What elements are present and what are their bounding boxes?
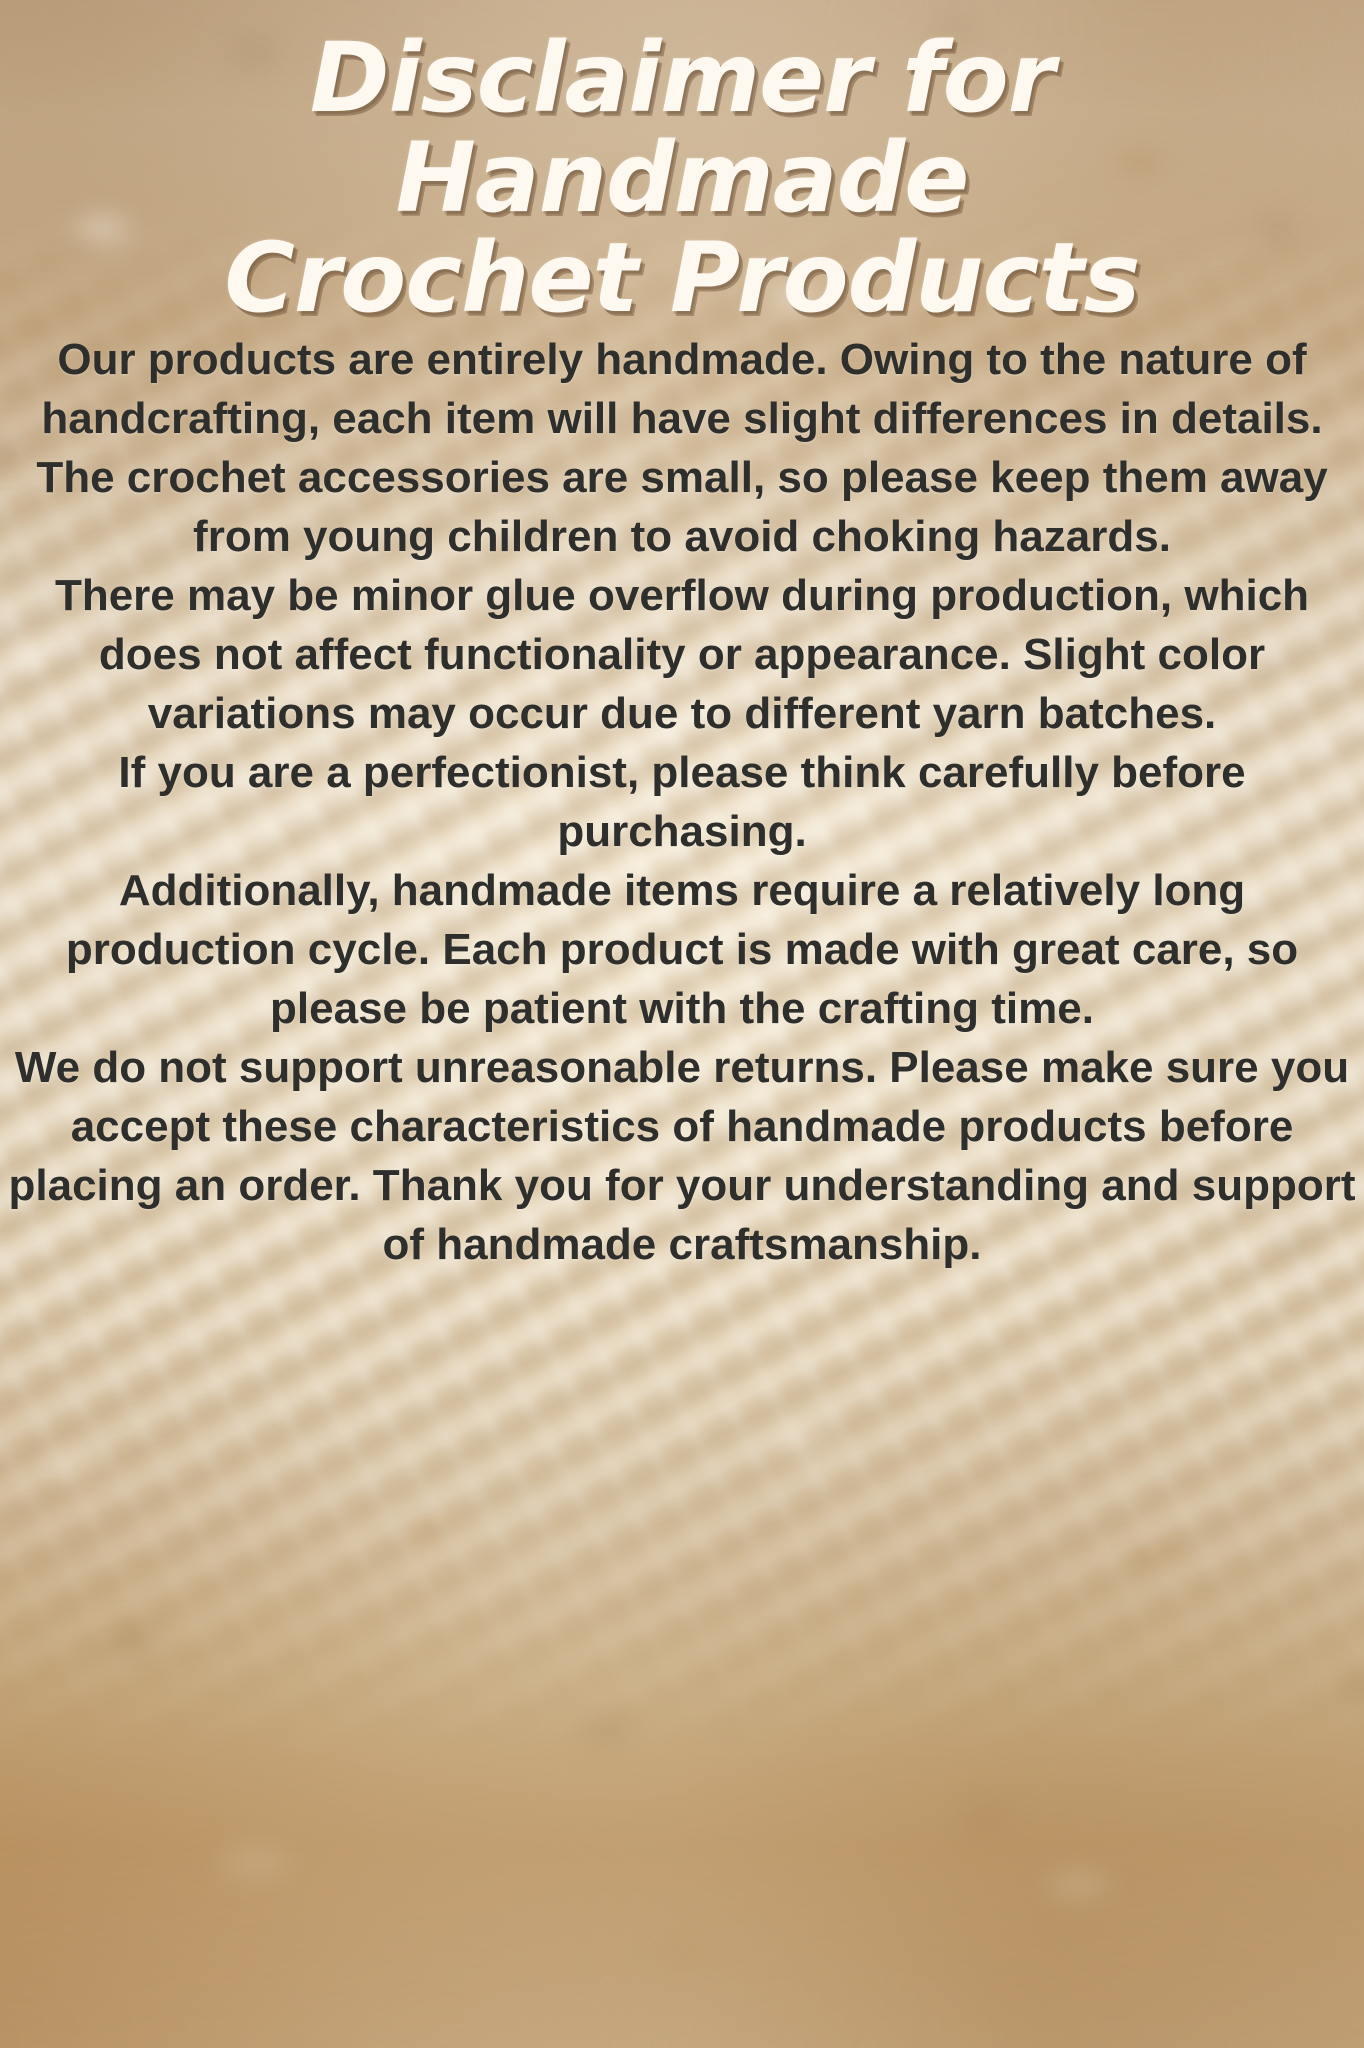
disclaimer-paragraph-1: Our products are entirely handmade. Owin…: [6, 330, 1358, 448]
page-title-line-1: Disclaimer for: [12, 28, 1352, 128]
disclaimer-paragraph-2: The crochet accessories are small, so pl…: [6, 448, 1358, 566]
disclaimer-paragraph-4: If you are a perfectionist, please think…: [6, 743, 1358, 861]
page-title-line-2: Handmade: [12, 128, 1352, 228]
poster-content: Disclaimer for Handmade Crochet Products…: [0, 0, 1364, 2048]
disclaimer-paragraph-5: Additionally, handmade items require a r…: [6, 861, 1358, 1038]
disclaimer-body: Our products are entirely handmade. Owin…: [6, 330, 1358, 1274]
disclaimer-poster: Disclaimer for Handmade Crochet Products…: [0, 0, 1364, 2048]
disclaimer-paragraph-3: There may be minor glue overflow during …: [6, 566, 1358, 743]
page-title: Disclaimer for Handmade Crochet Products: [0, 28, 1364, 328]
page-title-line-3: Crochet Products: [12, 228, 1352, 328]
disclaimer-paragraph-6: We do not support unreasonable returns. …: [6, 1038, 1358, 1274]
